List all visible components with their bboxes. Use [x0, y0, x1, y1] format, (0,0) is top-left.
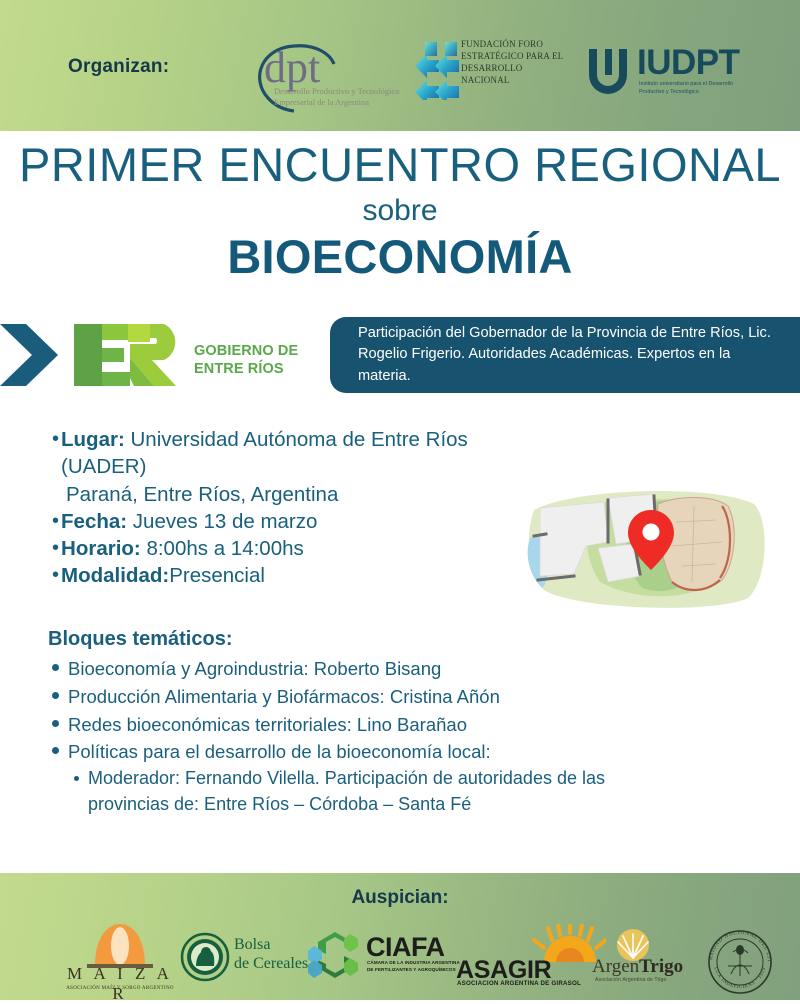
blocks-heading: Bloques temáticos: [48, 628, 648, 651]
organizan-label: Organizan: [68, 56, 169, 78]
svg-text:UNIVERSIDAD NACIONAL DEL LITOR: UNIVERSIDAD NACIONAL DEL LITORAL [700, 922, 772, 963]
bolsa-wordmark-line-1: Bolsa [234, 936, 308, 955]
footer-band: Auspician: M A I Z A R ASOCIACIÓN MAÍZ Y… [0, 873, 800, 1000]
detail-key-lugar: Lugar: [61, 428, 125, 451]
iudpt-wordmark: IUDPT [637, 45, 740, 80]
sponsor-asagir: ASAGIR ASOCIACION ARGENTINA DE GIRASOL [456, 928, 606, 990]
bullet-icon: • [52, 562, 59, 589]
detail-row-horario: • Horario: 8:00hs a 14:00hs [52, 535, 522, 562]
bolsa-seal-icon [180, 932, 230, 982]
detail-value-fecha: Jueves 13 de marzo [133, 510, 318, 533]
bullet-icon: • [52, 508, 59, 535]
dpt-wordmark: dpt [264, 46, 320, 90]
bullet-icon: • [52, 426, 59, 453]
block-item: Políticas para el desarrollo de la bioec… [48, 738, 648, 766]
governor-note-box: Participación del Gobernador de la Provi… [330, 317, 800, 393]
iudpt-logo: IUDPT Instituto universitario para el De… [585, 45, 750, 100]
block-subitem-label: Moderador: Fernando Vilella. Participaci… [88, 766, 648, 817]
event-details: • Lugar: Universidad Autónoma de Entre R… [52, 426, 522, 590]
detail-value-modalidad: Presencial [169, 564, 265, 587]
detail-row-fecha: • Fecha: Jueves 13 de marzo [52, 508, 522, 535]
event-poster: Organizan: dpt Desarrollo Productivo y T… [0, 0, 800, 1000]
ciafa-wordmark: CIAFA [366, 932, 445, 963]
sponsor-bolsa-de-cereales: Bolsa de Cereales [180, 932, 310, 990]
argentina-map-icon [516, 476, 788, 616]
block-item-label: Redes bioeconómicas territoriales: Lino … [68, 711, 467, 739]
sponsor-logos: M A I Z A R ASOCIACIÓN MAÍZ Y SORGO ARGE… [0, 918, 800, 998]
block-item: Bioeconomía y Agroindustria: Roberto Bis… [48, 655, 648, 683]
er-gov-line-2: ENTRE RÍOS [194, 361, 298, 379]
maizar-subtitle: ASOCIACIÓN MAÍZ Y SORGO ARGENTINO [55, 986, 185, 991]
auspician-label: Auspician: [0, 887, 800, 909]
bolsa-wordmark: Bolsa de Cereales [234, 936, 308, 974]
sponsor-maizar: M A I Z A R ASOCIACIÓN MAÍZ Y SORGO ARGE… [55, 920, 185, 998]
dpt-subtitle: Desarrollo Productivo y Tecnológico Empr… [274, 86, 414, 107]
argentrigo-wordmark-light: Argen [592, 956, 639, 977]
block-item: Redes bioeconómicas territoriales: Lino … [48, 711, 648, 739]
block-item: Producción Alimentaria y Biofármacos: Cr… [48, 683, 648, 711]
poster-title: PRIMER ENCUENTRO REGIONAL sobre BIOECONO… [0, 140, 800, 284]
bullet-dot-icon [52, 664, 59, 671]
detail-row-modalidad: • Modalidad:Presencial [52, 562, 522, 589]
title-line-1: PRIMER ENCUENTRO REGIONAL [0, 140, 800, 191]
er-gov-line-1: GOBIERNO DE [194, 343, 298, 361]
er-logo-icon [72, 322, 188, 388]
detail-key-modalidad: Modalidad: [61, 564, 169, 587]
iudpt-subtitle: Instituto universitario para el Desarrol… [639, 81, 751, 96]
bullet-dot-icon [52, 692, 59, 699]
fundacion-foro-logo: FUNDACIÓN FORO ESTRATÉGICO PARA EL DESAR… [413, 38, 565, 104]
block-item-label: Producción Alimentaria y Biofármacos: Cr… [68, 683, 500, 711]
location-map [516, 476, 788, 616]
sponsor-argentrigo: ArgenTrigo Asociación Argentina de Trigo [588, 930, 698, 990]
maizar-wordmark: M A I Z A R [59, 964, 181, 1004]
ciafa-hex-icon [308, 928, 362, 982]
chevron-right-icon [0, 324, 66, 386]
detail-value-horario: 8:00hs a 14:00hs [146, 537, 303, 560]
argentrigo-subtitle: Asociación Argentina de Trigo [595, 977, 667, 983]
unl-seal-icon: UNIVERSIDAD NACIONAL DEL LITORAL LUX IND… [700, 922, 780, 998]
asagir-subtitle: ASOCIACION ARGENTINA DE GIRASOL [457, 980, 581, 987]
er-gobierno-label: GOBIERNO DE ENTRE RÍOS [194, 343, 298, 378]
bolsa-wordmark-line-2: de Cereales [234, 955, 308, 974]
bullet-dot-icon [52, 720, 59, 727]
ciafa-subtitle: CÁMARA DE LA INDUSTRIA ARGENTINA DE FERT… [367, 960, 461, 973]
entre-rios-banner: GOBIERNO DE ENTRE RÍOS Participación del… [0, 310, 800, 398]
argentrigo-wordmark-bold: Trigo [639, 956, 683, 977]
block-subitem: Moderador: Fernando Vilella. Participaci… [74, 766, 648, 817]
title-line-3: BIOECONOMÍA [0, 229, 800, 284]
block-item-label: Políticas para el desarrollo de la bioec… [68, 738, 491, 766]
block-item-label: Bioeconomía y Agroindustria: Roberto Bis… [68, 655, 441, 683]
dpt-logo: dpt Desarrollo Productivo y Tecnológico … [242, 32, 412, 118]
detail-row-lugar: • Lugar: Universidad Autónoma de Entre R… [52, 426, 522, 481]
iudpt-u-icon [585, 47, 631, 95]
bullet-dot-icon [74, 776, 79, 781]
bullet-dot-icon [52, 747, 59, 754]
detail-key-horario: Horario: [61, 537, 141, 560]
foro-arrows-icon [413, 40, 461, 100]
sponsor-ciafa: CIAFA CÁMARA DE LA INDUSTRIA ARGENTINA D… [308, 928, 460, 990]
title-line-2: sobre [0, 194, 800, 228]
thematic-blocks: Bloques temáticos: Bioeconomía y Agroind… [48, 628, 648, 817]
bullet-icon: • [52, 535, 59, 562]
sponsor-unl: UNIVERSIDAD NACIONAL DEL LITORAL LUX IND… [700, 922, 780, 998]
maizar-corn-icon [55, 920, 185, 970]
detail-continuation-lugar: Paraná, Entre Ríos, Argentina [52, 481, 522, 508]
header-band: Organizan: dpt Desarrollo Productivo y T… [0, 0, 800, 131]
governor-note-text: Participación del Gobernador de la Provi… [330, 323, 800, 386]
foro-wordmark: FUNDACIÓN FORO ESTRATÉGICO PARA EL DESAR… [461, 39, 565, 87]
argentrigo-wordmark: ArgenTrigo [592, 956, 683, 978]
detail-key-fecha: Fecha: [61, 510, 127, 533]
